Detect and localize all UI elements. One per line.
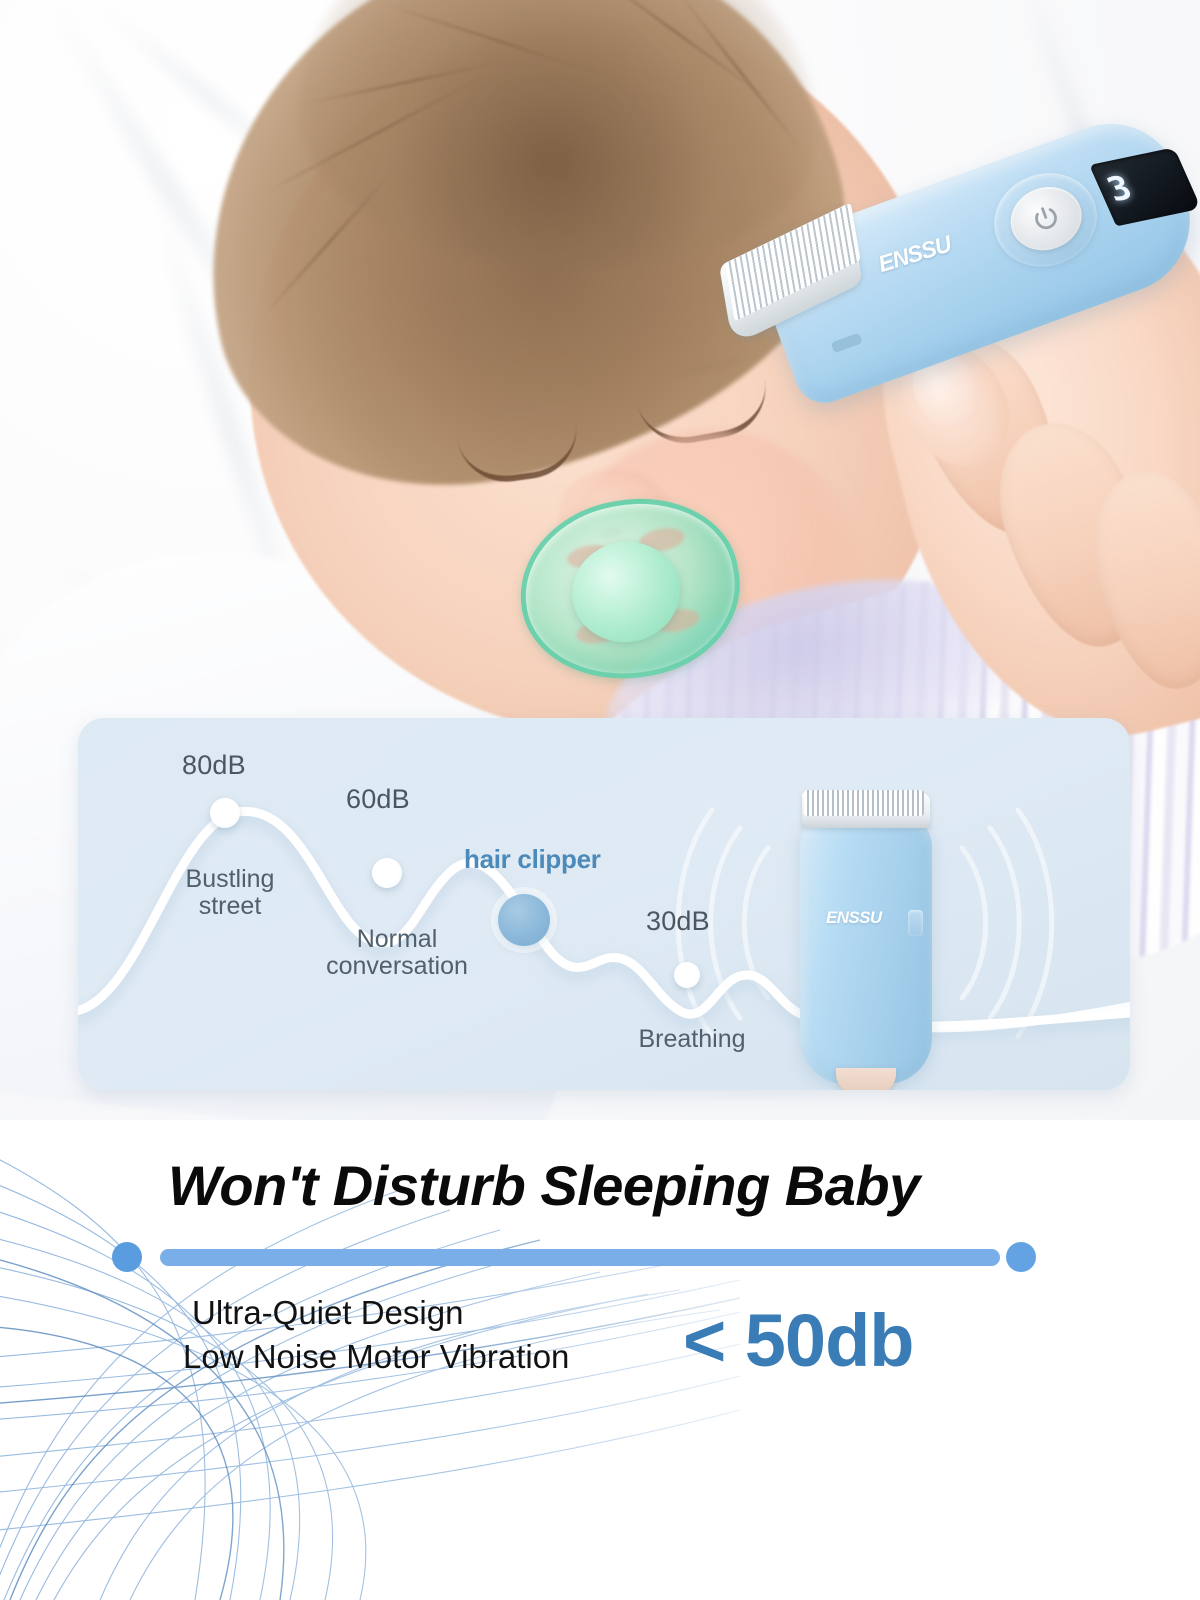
hair-clipper-illustration: ENSSU bbox=[790, 786, 948, 1086]
db-label-30: 30dB bbox=[646, 906, 710, 937]
db-label-80: 80dB bbox=[182, 750, 246, 781]
curve-node-80db bbox=[210, 798, 240, 828]
page-headline: Won't Disturb Sleeping Baby bbox=[168, 1153, 920, 1218]
db-label-60: 60dB bbox=[346, 784, 410, 815]
source-label-normal-conversation: Normal conversation bbox=[282, 926, 512, 980]
hair-clipper-label: hair clipper bbox=[464, 844, 601, 875]
brand-logo: ENSSU bbox=[826, 908, 882, 928]
led-digit: 3 bbox=[1101, 168, 1139, 210]
clipper-blade-teeth bbox=[804, 790, 924, 816]
divider-dot-right bbox=[1006, 1242, 1036, 1272]
curve-node-hair-clipper bbox=[498, 894, 550, 946]
product-marketing-page: ENSSU 3 bbox=[0, 0, 1200, 1600]
divider-bar bbox=[160, 1249, 1000, 1266]
divider bbox=[112, 1240, 1042, 1274]
source-label-breathing: Breathing bbox=[602, 1026, 782, 1053]
curve-node-60db bbox=[372, 858, 402, 888]
feature-ultra-quiet-design: Ultra-Quiet Design bbox=[192, 1294, 463, 1332]
source-label-bustling-street: Bustling street bbox=[140, 866, 320, 920]
divider-dot-left bbox=[112, 1242, 142, 1272]
noise-comparison-panel: 80dB Bustling street 60dB Normal convers… bbox=[78, 718, 1130, 1090]
power-icon bbox=[1027, 199, 1065, 237]
curve-node-30db bbox=[674, 962, 700, 988]
feature-low-noise-motor-vibration: Low Noise Motor Vibration bbox=[183, 1338, 569, 1376]
db-callout: < 50db bbox=[683, 1298, 914, 1383]
